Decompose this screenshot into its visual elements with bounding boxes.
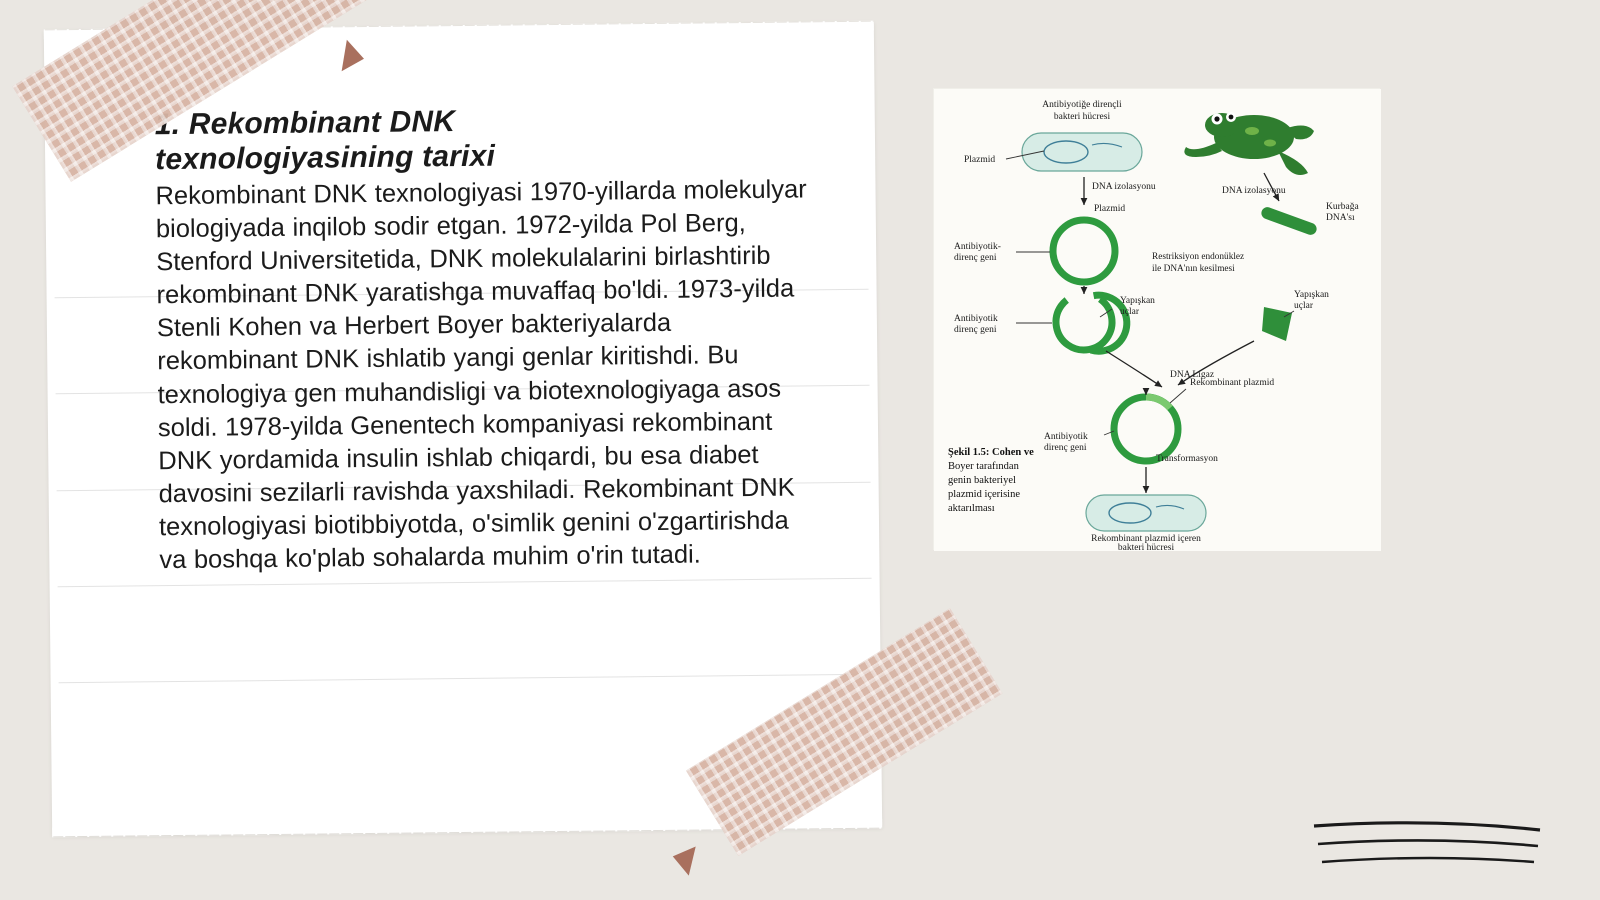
- washi-tape-tip-top-left: [342, 40, 367, 75]
- figure-label-sticky-right-line1: Yapışkan: [1294, 290, 1329, 300]
- figure-label-bottom-cell-line2: bakteri hücresi: [1118, 543, 1175, 551]
- figure-label-resistant-cell-line1: Antibiyotiğe dirençli: [1042, 100, 1122, 110]
- figure-label-plasmid-mid: Plazmid: [1094, 204, 1125, 214]
- slide-heading: 1. Rekombinant DNK texnologiyasining tar…: [155, 103, 576, 178]
- figure-caption-line4: plazmid içerisine: [948, 489, 1020, 500]
- recombinant-dna-diagram: Antibiyotiğe dirençli bakteri hücresi Pl…: [934, 89, 1381, 551]
- figure-bacterium-bottom: [1086, 495, 1206, 531]
- paper-card: 1. Rekombinant DNK texnologiyasining tar…: [44, 22, 882, 837]
- figure-label-restriction-line1: Restriksiyon endonüklez: [1152, 252, 1244, 262]
- figure-caption-line1: Şekil 1.5: Cohen ve: [948, 447, 1034, 458]
- figure-label-recombinant-plasmid: Rekombinant plazmid: [1190, 378, 1274, 388]
- figure-label-antibiotic-gene-1-line1: Antibiyotik-: [954, 242, 1001, 252]
- text-block: 1. Rekombinant DNK texnologiyasining tar…: [155, 100, 820, 577]
- paper-rule-line: [59, 674, 873, 684]
- figure-label-antibiotic-gene-2-line2: direnç geni: [954, 325, 997, 335]
- figure-label-frog-dna-line1: Kurbağa: [1326, 202, 1359, 212]
- figure-label-antibiotic-gene-2-line1: Antibiyotik: [954, 314, 998, 324]
- figure-label-transformation: Transformasyon: [1156, 453, 1218, 464]
- paper-rule-line: [58, 578, 872, 588]
- figure-caption-line2: Boyer tarafından: [948, 461, 1020, 472]
- decorative-lines: [1312, 816, 1542, 878]
- figure-label-sticky-left-line1: Yapışkan: [1120, 296, 1155, 306]
- figure-caption-line5: aktarılması: [948, 503, 995, 514]
- figure-label-sticky-right-line2: uçlar: [1294, 301, 1314, 311]
- slide-body-text: Rekombinant DNK texnologiyasi 1970-yilla…: [155, 173, 819, 578]
- figure-label-dna-isolation-right: DNA izolasyonu: [1222, 186, 1286, 196]
- figure-label-plasmid-left: Plazmid: [964, 155, 995, 165]
- figure-caption-line3: genin bakteriyel: [948, 475, 1016, 486]
- figure-label-dna-isolation-left: DNA izolasyonu: [1092, 182, 1156, 192]
- figure-label-antibiotic-gene-3-line2: direnç geni: [1044, 443, 1087, 453]
- figure-label-frog-dna-line2: DNA'sı: [1326, 213, 1355, 223]
- washi-tape-tip-bottom-right: [669, 842, 695, 876]
- figure-label-resistant-cell-line2: bakteri hücresi: [1054, 112, 1111, 122]
- figure-label-antibiotic-gene-3-line1: Antibiyotik: [1044, 432, 1088, 442]
- figure-label-sticky-left-line2: uçlar: [1120, 307, 1140, 317]
- figure-label-antibiotic-gene-1-line2: direnç geni: [954, 253, 997, 263]
- figure-label-restriction-line2: ile DNA'nın kesilmesi: [1152, 264, 1235, 274]
- figure-panel: Antibiyotiğe dirençli bakteri hücresi Pl…: [933, 88, 1380, 550]
- slide-canvas: 1. Rekombinant DNK texnologiyasining tar…: [0, 0, 1600, 900]
